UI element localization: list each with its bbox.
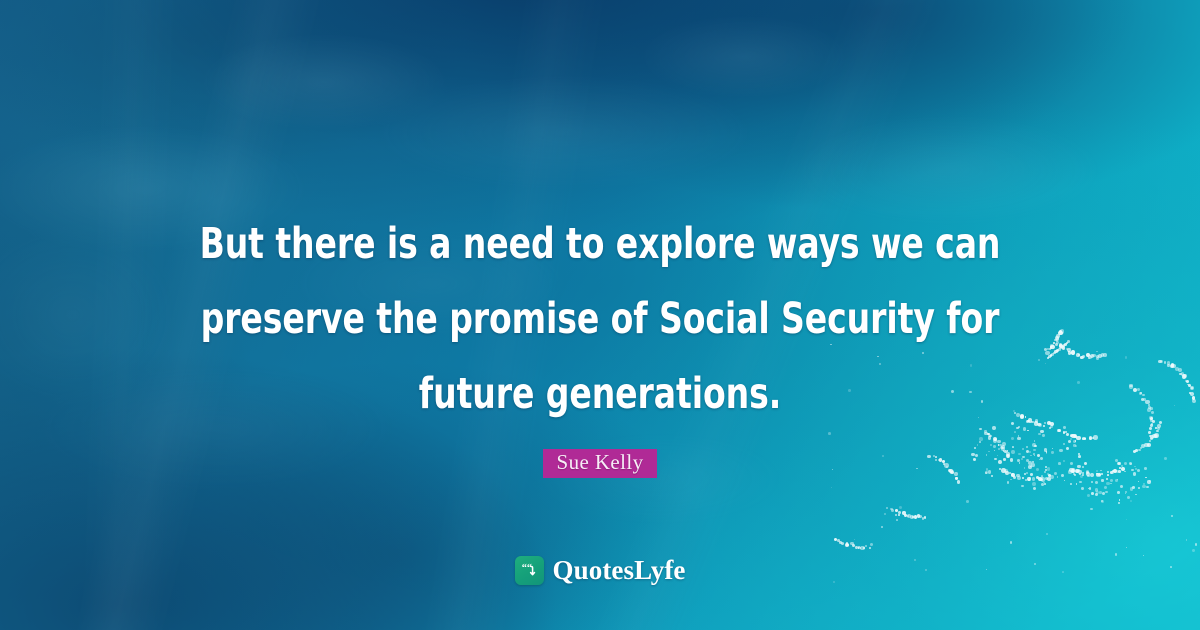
brand-name-label: QuotesLyfe bbox=[553, 556, 686, 585]
brand-watermark[interactable]: ““ QuotesLyfe bbox=[0, 556, 1200, 585]
author-badge-container: Sue Kelly bbox=[0, 449, 1200, 478]
author-name-badge[interactable]: Sue Kelly bbox=[543, 449, 656, 478]
quote-line-2: preserve the promise of Social Security … bbox=[87, 282, 1113, 357]
quote-line-1: But there is a need to explore ways we c… bbox=[87, 207, 1113, 282]
quote-line-3: future generations. bbox=[87, 357, 1113, 432]
quote-card: But there is a need to explore ways we c… bbox=[0, 0, 1200, 630]
quote-bubble-icon: ““ bbox=[515, 556, 544, 585]
quote-text-block: But there is a need to explore ways we c… bbox=[0, 207, 1200, 432]
